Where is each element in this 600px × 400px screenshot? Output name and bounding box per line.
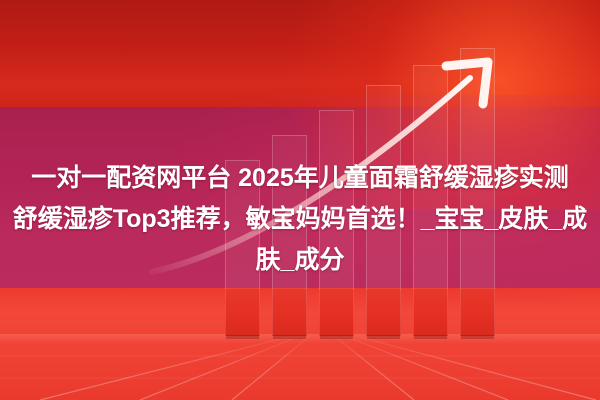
bar-1-fill <box>225 289 260 336</box>
bar-1-shadow <box>226 335 259 339</box>
bar-5-fill <box>413 289 448 336</box>
bar-6-shadow <box>461 335 494 339</box>
bar-4-shadow <box>367 335 400 339</box>
title-line-2: 舒缓湿疹Top3推荐，敏宝妈妈首选！_宝宝_皮肤_成 <box>0 199 600 240</box>
page-title: 一对一配资网平台 2025年儿童面霜舒缓湿疹实测 舒缓湿疹Top3推荐，敏宝妈妈… <box>0 158 600 281</box>
bar-5-shadow <box>414 335 447 339</box>
bar-3-fill <box>319 289 354 336</box>
bar-3-shadow <box>320 335 353 339</box>
title-line-1: 一对一配资网平台 2025年儿童面霜舒缓湿疹实测 <box>0 158 600 199</box>
bar-2-fill <box>272 289 307 336</box>
bar-4-fill <box>366 289 401 336</box>
bar-6-fill <box>460 289 495 336</box>
promo-banner: 一对一配资网平台 2025年儿童面霜舒缓湿疹实测 舒缓湿疹Top3推荐，敏宝妈妈… <box>0 0 600 400</box>
bar-2-shadow <box>273 335 306 339</box>
title-line-3: 肤_成分 <box>0 240 600 281</box>
